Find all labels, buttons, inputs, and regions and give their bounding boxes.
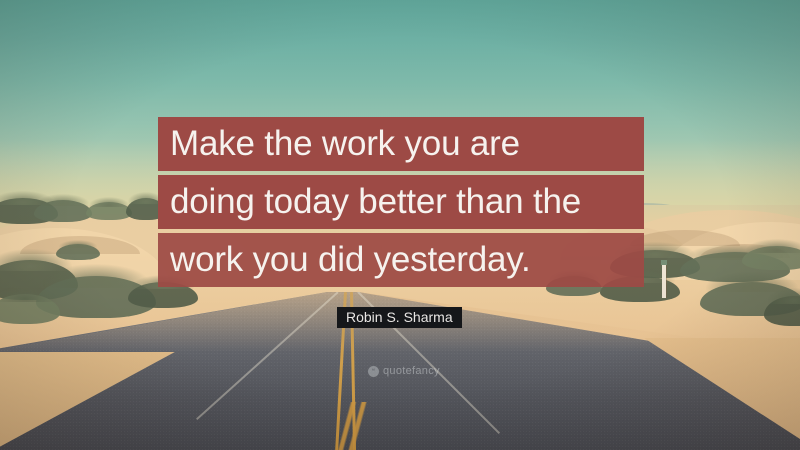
quote-line: doing today better than the [158,175,644,229]
watermark-label: quotefancy [383,366,440,377]
quote-line: work you did yesterday. [158,233,644,287]
center-line-foreground [336,402,370,450]
desert-shrub [56,244,100,260]
roadside-marker-reflector [661,260,667,265]
quotefancy-logo-icon: “ [368,366,379,377]
author-badge: Robin S. Sharma [337,307,462,328]
quote-line: Make the work you are [158,117,644,171]
quote-block: Make the work you are doing today better… [158,117,644,287]
watermark: “ quotefancy [368,366,440,377]
desert-shrub [742,246,800,270]
desert-shrub [34,200,92,222]
quote-wallpaper: Make the work you are doing today better… [0,0,800,450]
